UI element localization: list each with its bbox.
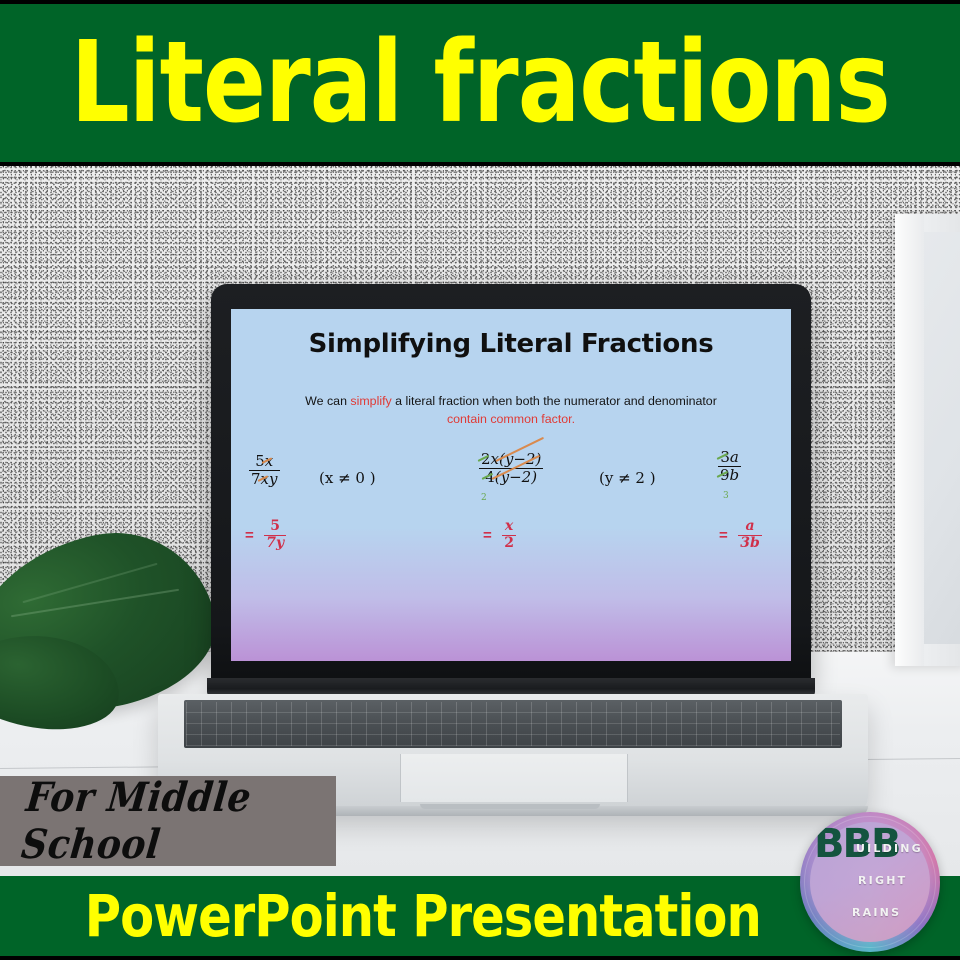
result-2-denominator: 2: [502, 535, 516, 552]
presentation-slide: Simplifying Literal Fractions We can sim…: [231, 309, 791, 661]
result-2: = x 2: [483, 519, 516, 551]
cancelled-x-numerator: x: [265, 453, 273, 470]
var-a-3: a: [730, 448, 739, 466]
fraction-2-denominator: 4(y−2): [479, 468, 543, 486]
slide-title: Simplifying Literal Fractions: [231, 329, 791, 359]
top-banner: Literal fractions: [0, 4, 960, 162]
expression-2: 2x(y−2) 4(y−2): [479, 451, 543, 486]
keyboard-keys: [186, 702, 840, 746]
photo-scene: Simplifying Literal Fractions We can sim…: [0, 166, 960, 878]
equals-sign-2: =: [483, 527, 492, 544]
reduced-subscript-3: 3: [723, 485, 729, 503]
fraction-1-numerator: 5x: [249, 453, 280, 470]
fraction-3-numerator: 3a: [718, 449, 741, 466]
cancelled-coeff-9-denominator: 9: [720, 467, 730, 484]
var-b-3: b: [730, 466, 740, 484]
product-cover-image: Literal fractions Simplifying Literal Fr…: [0, 0, 960, 960]
expression-1: 5x 7xy: [249, 453, 280, 488]
condition-1: (x ≠ 0 ): [319, 469, 376, 487]
fraction-3: 3a 9b: [718, 449, 741, 484]
result-fraction-3: a 3b: [738, 519, 762, 551]
subscript-value-3: 3: [723, 491, 729, 501]
cancelled-coeff-2-numerator: 2: [481, 451, 491, 468]
body-text-part2: a literal fraction when both the numerat…: [392, 394, 717, 408]
result-1: = 5 7y: [245, 519, 286, 551]
slide-body-text: We can simplify a literal fraction when …: [245, 393, 777, 429]
logo-monogram: BBB: [814, 828, 858, 936]
fraction-1: 5x 7xy: [249, 453, 280, 488]
fraction-2: 2x(y−2) 4(y−2): [479, 451, 543, 486]
reduced-subscript-2: 2: [481, 487, 487, 505]
expression-3: 3a 9b: [718, 449, 741, 484]
brand-logo: BBB UILDING RIGHT RAINS: [800, 812, 940, 952]
picture-frame-bevel: [895, 214, 924, 666]
laptop-base-notch: [420, 804, 600, 809]
cancelled-coeff-3-numerator: 3: [720, 449, 730, 466]
top-banner-title: Literal fractions: [70, 27, 889, 139]
cancelled-x-denominator: x: [261, 471, 269, 488]
fraction-3-denominator: 9b: [718, 466, 741, 484]
result-1-numerator: 5: [264, 519, 286, 535]
body-text-line2: contain common factor.: [245, 411, 777, 429]
fraction-1-denominator: 7xy: [249, 470, 280, 488]
cancelled-factor-denominator-2: (y−2): [495, 469, 537, 486]
logo-text-brains: RAINS: [852, 906, 901, 919]
equals-sign-3: =: [719, 527, 728, 544]
result-fraction-2: x 2: [502, 519, 516, 551]
picture-frame-inner: [924, 232, 960, 644]
subscript-value-2: 2: [481, 493, 487, 503]
den-var-y-1: y: [269, 470, 277, 488]
result-3-denominator: 3b: [738, 535, 762, 552]
math-expressions-row: 5x 7xy (x ≠ 0 ) 2x(y−2) 4(y−2) 2 (y ≠ 2 …: [231, 449, 791, 509]
condition-2: (y ≠ 2 ): [599, 469, 656, 487]
body-text-simplify: simplify: [350, 394, 391, 408]
laptop-keyboard: [184, 700, 842, 748]
bottom-banner-title: PowerPoint Presentation: [85, 887, 875, 945]
math-results-row: = 5 7y = x 2 =: [231, 509, 791, 559]
audience-label-text: For Middle School: [0, 774, 341, 868]
result-3-numerator: a: [738, 519, 762, 535]
result-3: = a 3b: [719, 519, 762, 551]
logo-text-building: UILDING: [856, 842, 923, 855]
audience-label-box: For Middle School: [0, 776, 336, 866]
body-text-part1: We can: [305, 394, 350, 408]
laptop-screen: Simplifying Literal Fractions We can sim…: [231, 309, 791, 661]
logo-text-bright: RIGHT: [858, 874, 907, 887]
result-fraction-1: 5 7y: [264, 519, 286, 551]
equals-sign-1: =: [245, 527, 254, 544]
result-2-numerator: x: [502, 519, 516, 535]
result-1-denominator: 7y: [264, 535, 286, 552]
laptop-trackpad: [400, 754, 628, 802]
